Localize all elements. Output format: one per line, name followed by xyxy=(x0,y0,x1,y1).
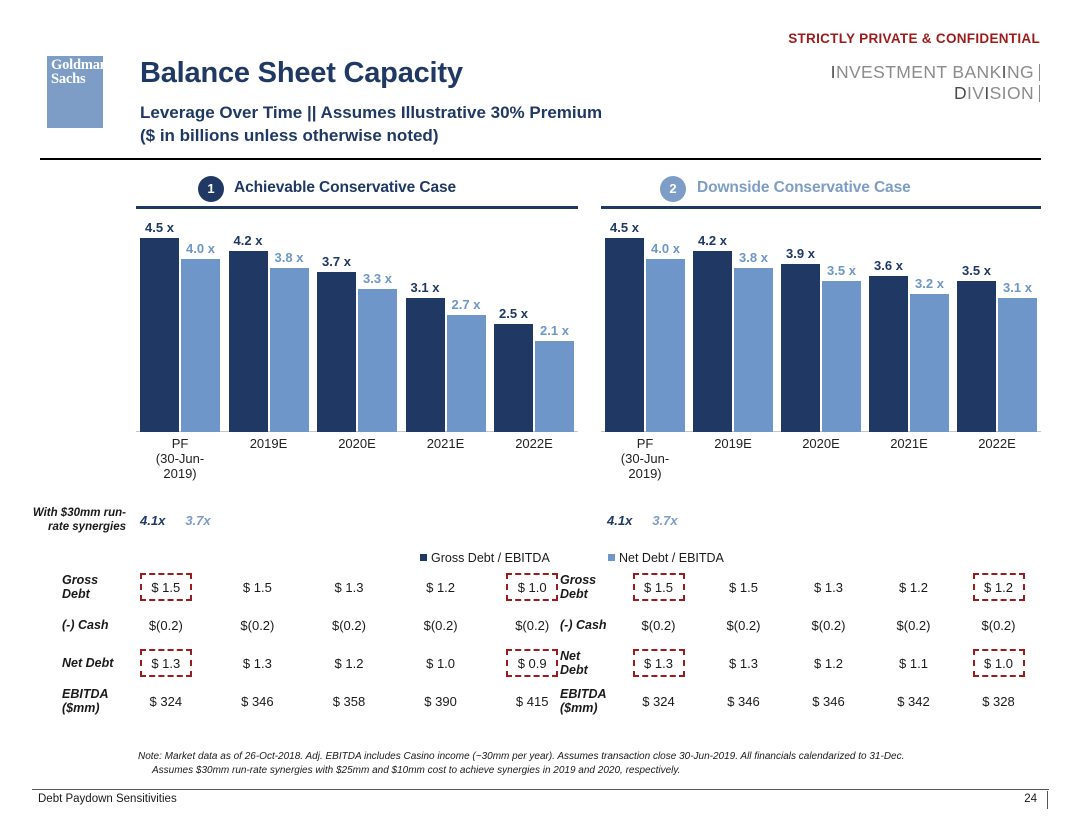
bar-value-label: 3.9 x xyxy=(786,246,815,264)
footer-divider xyxy=(32,789,1049,790)
bar-gross-debt: 4.2 x xyxy=(229,251,268,432)
legend-net-label: Net Debt / EBITDA xyxy=(619,551,724,565)
header-divider xyxy=(40,158,1041,160)
table-cell: $ 324 xyxy=(616,694,701,709)
bar-net-debt: 3.2 x xyxy=(910,294,949,432)
bar-value-label: 3.3 x xyxy=(363,271,392,289)
bar-value-label: 2.5 x xyxy=(499,306,528,324)
synergies-note: With $30mm run- rate synergies xyxy=(18,506,126,534)
panel-underline-right xyxy=(601,206,1041,209)
table-cell: $ 1.0 xyxy=(395,656,487,671)
bar-net-debt: 3.3 x xyxy=(358,289,397,432)
legend-swatch-gross-icon xyxy=(420,554,427,561)
bar-gross-debt: 4.5 x xyxy=(605,238,644,432)
table-cell: $ 1.2 xyxy=(303,656,395,671)
panel-badge-2: 2 xyxy=(660,176,686,202)
footnote-line-1: Note: Market data as of 26-Oct-2018. Adj… xyxy=(138,751,904,762)
data-table-right: GrossDebt$ 1.5$ 1.5$ 1.3$ 1.2$ 1.2(-) Ca… xyxy=(560,568,1041,720)
xtick-2020e: 2020E xyxy=(317,432,397,454)
chart-plot-left: 4.5 x4.0 x4.2 x3.8 x3.7 x3.3 x3.1 x2.7 x… xyxy=(140,216,574,432)
bar-net-debt: 3.8 x xyxy=(734,268,773,432)
synergies-values-right: 4.1x3.7x xyxy=(607,513,678,528)
bar-group: 4.2 x3.8 x xyxy=(229,216,309,432)
bar-value-label: 4.0 x xyxy=(186,241,215,259)
division-mark: INVESTMENT BANKING DIVISION xyxy=(831,62,1040,104)
bar-group: 2.5 x2.1 x xyxy=(494,216,574,432)
bar-value-label: 2.1 x xyxy=(540,323,569,341)
row-label: EBITDA($mm) xyxy=(560,687,616,716)
chart-plot-right: 4.5 x4.0 x4.2 x3.8 x3.9 x3.5 x3.6 x3.2 x… xyxy=(605,216,1037,432)
xtick-pf-sublabel: (30-Jun-2019) xyxy=(140,451,220,481)
chart-xaxis-right: PF (30-Jun-2019) 2019E 2020E 2021E 2022E xyxy=(605,432,1037,454)
logo-line-2: Sachs xyxy=(51,71,85,87)
bar-net-debt: 2.1 x xyxy=(535,341,574,432)
bar-gross-debt: 3.6 x xyxy=(869,276,908,432)
panel-title-left: Achievable Conservative Case xyxy=(234,179,456,197)
division-line-1: INVESTMENT BANKING xyxy=(831,62,1040,83)
bar-value-label: 4.0 x xyxy=(651,241,680,259)
row-label-line-1: Net Debt xyxy=(62,656,113,670)
bar-group: 3.9 x3.5 x xyxy=(781,216,861,432)
bar-group: 4.5 x4.0 x xyxy=(140,216,220,432)
table-cell-highlighted: $ 1.3 xyxy=(616,656,701,671)
table-cell: $ 324 xyxy=(120,694,212,709)
bar-group: 4.5 x4.0 x xyxy=(605,216,685,432)
bar-value-label: 3.1 x xyxy=(1003,280,1032,298)
table-cell: $ 346 xyxy=(212,694,304,709)
bar-gross-debt: 4.2 x xyxy=(693,251,732,432)
footer-section-label: Debt Paydown Sensitivities xyxy=(38,793,177,805)
table-cell: $ 346 xyxy=(701,694,786,709)
division-text-2: NG xyxy=(1007,62,1034,82)
table-cell: $(0.2) xyxy=(120,618,212,633)
page-title: Balance Sheet Capacity xyxy=(140,57,463,90)
legend-net-debt: Net Debt / EBITDA xyxy=(608,551,724,565)
table-row: GrossDebt$ 1.5$ 1.5$ 1.3$ 1.2$ 1.0 xyxy=(62,568,578,606)
table-cell: $ 1.3 xyxy=(701,656,786,671)
confidentiality-banner: STRICTLY PRIVATE & CONFIDENTIAL xyxy=(788,31,1040,46)
bar-value-label: 3.2 x xyxy=(915,276,944,294)
footnote-line-2: Assumes $30mm run-rate synergies with $2… xyxy=(138,764,1026,778)
table-cell: $(0.2) xyxy=(212,618,304,633)
bar-gross-debt: 3.7 x xyxy=(317,272,356,432)
bar-group: 3.7 x3.3 x xyxy=(317,216,397,432)
table-cell: $ 390 xyxy=(395,694,487,709)
subtitle-line-2: ($ in billions unless otherwise noted) xyxy=(140,124,602,147)
bar-net-debt: 4.0 x xyxy=(646,259,685,432)
row-label-line-2: ($mm) xyxy=(560,701,598,715)
bar-value-label: 2.7 x xyxy=(452,297,481,315)
table-cell: $(0.2) xyxy=(303,618,395,633)
table-cell-highlighted: $ 1.5 xyxy=(616,580,701,595)
bar-value-label: 3.7 x xyxy=(322,254,351,272)
table-row: GrossDebt$ 1.5$ 1.5$ 1.3$ 1.2$ 1.2 xyxy=(560,568,1041,606)
legend-gross-label: Gross Debt / EBITDA xyxy=(431,551,550,565)
division-text-4: SION xyxy=(990,83,1034,103)
subtitle-line-1: Leverage Over Time || Assumes Illustrati… xyxy=(140,101,602,124)
bar-value-label: 3.1 x xyxy=(411,280,440,298)
bar-gross-debt: 2.5 x xyxy=(494,324,533,432)
bar-net-debt: 4.0 x xyxy=(181,259,220,432)
xtick-pf-label: PF xyxy=(637,436,654,451)
xtick-2019e: 2019E xyxy=(229,432,309,454)
row-label: (-) Cash xyxy=(62,618,120,633)
row-label-line-1: (-) Cash xyxy=(560,618,607,632)
legend-gross-debt: Gross Debt / EBITDA xyxy=(420,551,550,565)
xtick-pf-label: PF xyxy=(172,436,189,451)
row-label: EBITDA($mm) xyxy=(62,687,120,716)
panel-underline-left xyxy=(136,206,578,209)
table-cell: $ 328 xyxy=(956,694,1041,709)
table-cell: $ 358 xyxy=(303,694,395,709)
synergies-net-left: 3.7x xyxy=(185,513,210,528)
table-row: Net Debt$ 1.3$ 1.3$ 1.2$ 1.0$ 0.9 xyxy=(62,644,578,682)
panel-title-right: Downside Conservative Case xyxy=(697,179,911,197)
row-label-line-1: (-) Cash xyxy=(62,618,109,632)
bar-net-debt: 3.8 x xyxy=(270,268,309,432)
row-label-line-1: EBITDA xyxy=(62,687,109,701)
xtick-2021e: 2021E xyxy=(869,432,949,454)
table-cell: $ 1.2 xyxy=(786,656,871,671)
bar-net-debt: 3.1 x xyxy=(998,298,1037,432)
xtick-2021e: 2021E xyxy=(406,432,486,454)
table-row: NetDebt$ 1.3$ 1.3$ 1.2$ 1.1$ 1.0 xyxy=(560,644,1041,682)
row-label-line-2: ($mm) xyxy=(62,701,100,715)
row-label: GrossDebt xyxy=(560,573,616,602)
table-cell: $ 1.5 xyxy=(212,580,304,595)
row-label: Net Debt xyxy=(62,656,120,671)
table-cell: $ 1.5 xyxy=(701,580,786,595)
xtick-2022e: 2022E xyxy=(494,432,574,454)
table-cell: $ 1.3 xyxy=(212,656,304,671)
footnote: Note: Market data as of 26-Oct-2018. Adj… xyxy=(138,750,1026,778)
panel-downside-conservative-case: 2 Downside Conservative Case 4.5 x4.0 x4… xyxy=(601,176,1041,204)
row-label-line-1: Net xyxy=(560,649,580,663)
synergies-note-line-2: rate synergies xyxy=(48,521,126,533)
table-cell: $ 1.3 xyxy=(303,580,395,595)
xtick-pf: PF (30-Jun-2019) xyxy=(140,432,220,454)
chart-xaxis-left: PF (30-Jun-2019) 2019E 2020E 2021E 2022E xyxy=(140,432,574,454)
chart-downside-conservative-case: 4.5 x4.0 x4.2 x3.8 x3.9 x3.5 x3.6 x3.2 x… xyxy=(601,216,1041,454)
row-label-line-2: Debt xyxy=(560,587,588,601)
row-label: (-) Cash xyxy=(560,618,616,633)
bar-net-debt: 3.5 x xyxy=(822,281,861,432)
panel-header-left: 1 Achievable Conservative Case xyxy=(136,176,578,204)
legend-swatch-net-icon xyxy=(608,554,615,561)
xtick-pf-sublabel: (30-Jun-2019) xyxy=(605,451,685,481)
table-cell: $ 1.3 xyxy=(786,580,871,595)
data-table-left: GrossDebt$ 1.5$ 1.5$ 1.3$ 1.2$ 1.0(-) Ca… xyxy=(62,568,578,720)
bar-value-label: 4.5 x xyxy=(145,220,174,238)
row-label-line-2: Debt xyxy=(62,587,90,601)
bar-value-label: 4.5 x xyxy=(610,220,639,238)
bar-value-label: 3.8 x xyxy=(739,250,768,268)
division-cap-d: D xyxy=(954,83,967,103)
table-cell: $(0.2) xyxy=(786,618,871,633)
panel-header-right: 2 Downside Conservative Case xyxy=(601,176,1041,204)
row-label-line-1: Gross xyxy=(560,573,596,587)
bar-value-label: 3.5 x xyxy=(962,263,991,281)
xtick-2022e: 2022E xyxy=(957,432,1037,454)
synergies-gross-left: 4.1x xyxy=(140,513,165,528)
page-subtitle: Leverage Over Time || Assumes Illustrati… xyxy=(140,101,602,147)
table-cell: $(0.2) xyxy=(871,618,956,633)
xtick-2020e: 2020E xyxy=(781,432,861,454)
row-label-line-2: Debt xyxy=(560,663,588,677)
xtick-pf: PF (30-Jun-2019) xyxy=(605,432,685,454)
table-cell: $ 1.2 xyxy=(395,580,487,595)
panel-badge-1: 1 xyxy=(198,176,224,202)
bar-gross-debt: 4.5 x xyxy=(140,238,179,432)
table-cell-highlighted: $ 1.3 xyxy=(120,656,212,671)
row-label: GrossDebt xyxy=(62,573,120,602)
panel-achievable-conservative-case: 1 Achievable Conservative Case 4.5 x4.0 … xyxy=(136,176,578,204)
row-label-line-1: EBITDA xyxy=(560,687,607,701)
synergies-net-right: 3.7x xyxy=(652,513,677,528)
row-label: NetDebt xyxy=(560,649,616,678)
bar-net-debt: 2.7 x xyxy=(447,315,486,432)
bar-gross-debt: 3.9 x xyxy=(781,264,820,432)
synergies-gross-right: 4.1x xyxy=(607,513,632,528)
division-text-1: NVESTMENT BANK xyxy=(836,62,1002,82)
table-cell: $(0.2) xyxy=(616,618,701,633)
table-cell: $(0.2) xyxy=(395,618,487,633)
table-cell-highlighted: $ 1.5 xyxy=(120,580,212,595)
xtick-2019e: 2019E xyxy=(693,432,773,454)
table-cell: $ 342 xyxy=(871,694,956,709)
bar-group: 3.6 x3.2 x xyxy=(869,216,949,432)
bar-group: 4.2 x3.8 x xyxy=(693,216,773,432)
bar-group: 3.5 x3.1 x xyxy=(957,216,1037,432)
table-cell: $ 1.2 xyxy=(871,580,956,595)
table-cell-highlighted: $ 1.0 xyxy=(956,656,1041,671)
table-cell: $(0.2) xyxy=(701,618,786,633)
bar-group: 3.1 x2.7 x xyxy=(406,216,486,432)
division-rule-1 xyxy=(1039,64,1040,81)
synergies-note-line-1: With $30mm run- xyxy=(33,507,126,519)
bar-gross-debt: 3.5 x xyxy=(957,281,996,432)
bar-value-label: 3.5 x xyxy=(827,263,856,281)
synergies-values-left: 4.1x3.7x xyxy=(140,513,211,528)
table-row: (-) Cash$(0.2)$(0.2)$(0.2)$(0.2)$(0.2) xyxy=(560,606,1041,644)
table-row: (-) Cash$(0.2)$(0.2)$(0.2)$(0.2)$(0.2) xyxy=(62,606,578,644)
goldman-sachs-logo: Goldman Sachs xyxy=(47,56,103,128)
table-row: EBITDA($mm)$ 324$ 346$ 346$ 342$ 328 xyxy=(560,682,1041,720)
division-line-2: DIVISION xyxy=(831,83,1040,104)
bar-value-label: 3.8 x xyxy=(275,250,304,268)
row-label-line-1: Gross xyxy=(62,573,98,587)
chart-achievable-conservative-case: 4.5 x4.0 x4.2 x3.8 x3.7 x3.3 x3.1 x2.7 x… xyxy=(136,216,578,454)
bar-value-label: 4.2 x xyxy=(234,233,263,251)
division-rule-2 xyxy=(1039,85,1040,102)
bar-value-label: 4.2 x xyxy=(698,233,727,251)
page-number: 24 xyxy=(1024,793,1037,805)
footer-tick-rule xyxy=(1047,791,1048,809)
table-cell: $ 346 xyxy=(786,694,871,709)
table-cell-highlighted: $ 1.2 xyxy=(956,580,1041,595)
bar-value-label: 3.6 x xyxy=(874,258,903,276)
table-cell: $ 1.1 xyxy=(871,656,956,671)
bar-gross-debt: 3.1 x xyxy=(406,298,445,432)
logo-text: Goldman Sachs xyxy=(47,56,103,86)
table-cell: $(0.2) xyxy=(956,618,1041,633)
table-row: EBITDA($mm)$ 324$ 346$ 358$ 390$ 415 xyxy=(62,682,578,720)
division-text-3: IV xyxy=(967,83,984,103)
